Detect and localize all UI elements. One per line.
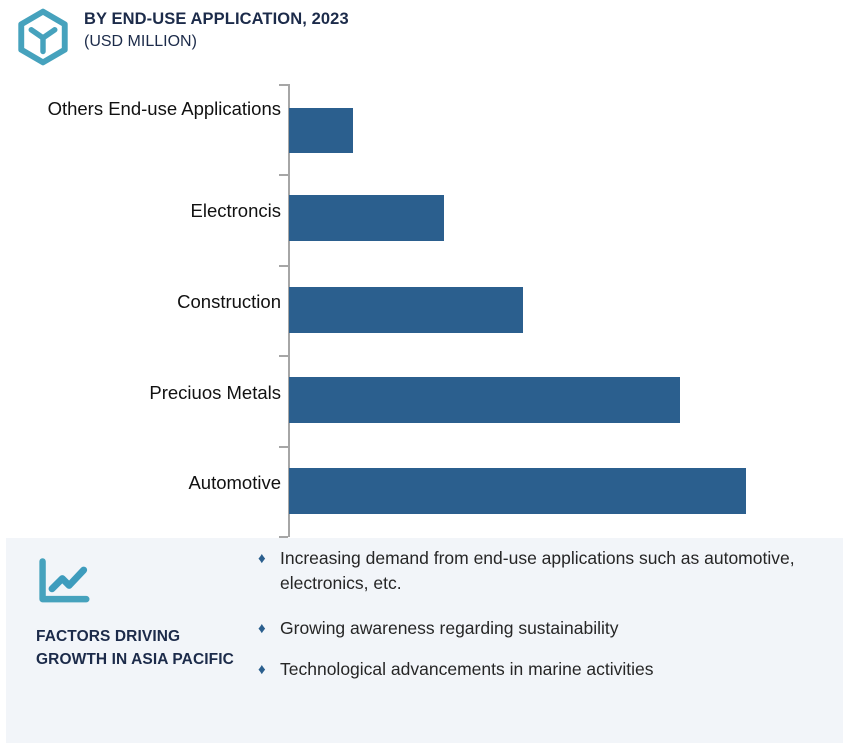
- bar-category-label: Electroncis: [41, 200, 281, 223]
- panel-left-column: FACTORS DRIVING GROWTH IN ASIA PACIFIC: [36, 558, 236, 671]
- bar-category-label: Others End-use Applications: [41, 98, 281, 121]
- line-chart-icon: [36, 558, 92, 606]
- bar-segment[interactable]: [289, 195, 444, 241]
- bar-chart: Others End-use Applications Electroncis …: [0, 84, 849, 538]
- list-item: ♦ Increasing demand from end-use applica…: [258, 546, 838, 596]
- page-title: BY END-USE APPLICATION, 2023: [84, 9, 349, 31]
- growth-factors-panel: FACTORS DRIVING GROWTH IN ASIA PACIFIC ♦…: [6, 538, 843, 743]
- chart-header: BY END-USE APPLICATION, 2023 (USD MILLIO…: [0, 0, 849, 84]
- bar-row: Construction: [0, 265, 849, 355]
- title-block: BY END-USE APPLICATION, 2023 (USD MILLIO…: [84, 9, 349, 53]
- bar-category-label: Preciuos Metals: [41, 382, 281, 405]
- bar-row: Electroncis: [0, 174, 849, 265]
- list-item: ♦ Technological advancements in marine a…: [258, 657, 838, 682]
- list-item: ♦ Growing awareness regarding sustainabi…: [258, 616, 838, 641]
- diamond-bullet-icon: ♦: [258, 657, 280, 681]
- bar-segment[interactable]: [289, 468, 746, 514]
- bar-category-label: Automotive: [41, 472, 281, 495]
- growth-factors-list: ♦ Increasing demand from end-use applica…: [258, 546, 838, 697]
- bar-row: Others End-use Applications: [0, 84, 849, 174]
- list-item-label: Increasing demand from end-use applicati…: [280, 546, 838, 596]
- bar-row: Automotive: [0, 446, 849, 536]
- diamond-bullet-icon: ♦: [258, 546, 280, 570]
- bar-category-label: Construction: [41, 291, 281, 314]
- hexagon-cube-icon: [14, 8, 72, 66]
- list-item-label: Technological advancements in marine act…: [280, 657, 838, 682]
- diamond-bullet-icon: ♦: [258, 616, 280, 640]
- bar-segment[interactable]: [289, 287, 523, 333]
- bar-segment[interactable]: [289, 108, 353, 153]
- chart-units-label: (USD MILLION): [84, 32, 349, 53]
- panel-heading: FACTORS DRIVING GROWTH IN ASIA PACIFIC: [36, 626, 236, 671]
- bar-row: Preciuos Metals: [0, 355, 849, 446]
- list-item-label: Growing awareness regarding sustainabili…: [280, 616, 838, 641]
- bar-segment[interactable]: [289, 377, 680, 423]
